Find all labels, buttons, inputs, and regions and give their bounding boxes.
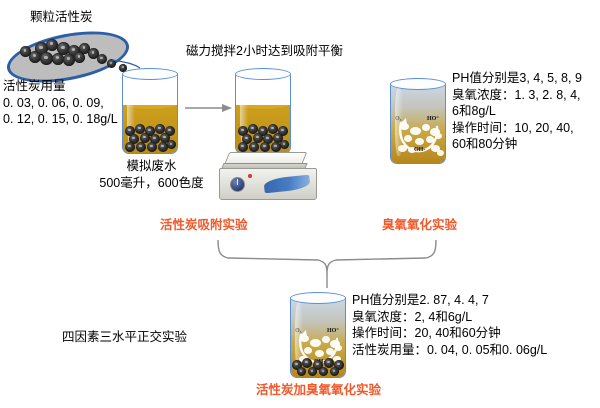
carbon-granule	[319, 367, 328, 376]
wastewater-line-2: 500毫升，600色度	[99, 175, 204, 192]
beaker-rim	[290, 292, 346, 304]
label-adsorption-experiment: 活性炭吸附实验	[160, 214, 248, 234]
carbon-pile-label: 颗粒活性炭	[30, 10, 93, 24]
ozone-params-line-1: PH值分别是3, 4, 5, 8, 9	[452, 70, 582, 87]
stirrer-base	[219, 168, 317, 200]
carbon-granule	[249, 142, 259, 152]
carbon-granule	[238, 142, 248, 152]
carbon-granule	[20, 46, 31, 57]
carbon-granule	[147, 142, 157, 152]
carbon-granule	[297, 367, 306, 376]
carbon-granule	[107, 59, 116, 68]
carbon-dose-block: 活性炭用量 0. 03, 0. 06, 0. 09, 0. 12, 0. 15,…	[3, 78, 118, 128]
beaker-rim	[122, 68, 178, 80]
magnetic-stirrer	[219, 152, 315, 200]
stirrer-power-led-icon	[248, 174, 252, 178]
carbon-granule	[167, 140, 176, 149]
beaker-wastewater	[122, 68, 178, 154]
label-ozonation-experiment: 臭氧氧化实验	[382, 214, 457, 234]
carbon-granule	[308, 367, 317, 376]
label-combined-experiment: 活性炭加臭氧氧化实验	[256, 379, 381, 399]
merge-brace	[218, 240, 436, 274]
label-orthogonal-experiment: 四因素三水平正交实验	[62, 328, 187, 346]
combined-params-line-1: PH值分别是2. 87, 4. 4, 7	[352, 292, 547, 309]
ozone-params-line-3: 6和8g/L	[452, 103, 582, 120]
carbon-dose-line-1: 0. 03, 0. 06, 0. 09,	[3, 95, 118, 112]
beaker-rim	[390, 78, 446, 90]
ozone-params-line-2: 臭氧浓度：1. 3, 2. 8, 4,	[452, 87, 582, 104]
transfer-arrow-head	[222, 104, 232, 112]
carbon-granule	[97, 54, 107, 64]
beaker-rim	[235, 68, 291, 80]
carbon-granule	[330, 367, 339, 376]
combined-params-line-4: 活性炭用量：0. 04, 0. 05和0. 06g/L	[352, 342, 547, 359]
diagram-canvas: 颗粒活性炭 活性炭用量 0. 03, 0. 06, 0. 09, 0. 12, …	[0, 0, 600, 408]
carbon-bed	[125, 124, 175, 152]
carbon-dose-line-2: 0. 12, 0. 15, 0. 18g/L	[3, 111, 118, 128]
beaker-ozonation: O₃ HO° OH-	[390, 78, 446, 164]
wastewater-caption: 模拟废水 500毫升，600色度	[99, 158, 204, 191]
carbon-bed	[292, 358, 344, 376]
carbon-bed	[238, 124, 288, 152]
hydroxide-label: OH-	[414, 147, 425, 153]
beaker-combined: O₃ HO° OH-	[290, 292, 346, 378]
carbon-granule	[260, 142, 270, 152]
combined-params-line-2: 臭氧浓度：2, 4和6g/L	[352, 309, 547, 326]
wastewater-line-1: 模拟废水	[99, 158, 204, 175]
stirrer-brand-logo	[263, 175, 310, 194]
carbon-dose-heading: 活性炭用量	[3, 78, 118, 95]
carbon-pile-title: 颗粒活性炭	[30, 8, 93, 26]
hydroxyl-radical-label: HO°	[327, 328, 339, 334]
ozone-params-line-4: 操作时间：10, 20, 40,	[452, 120, 582, 137]
stirring-title: 磁力搅拌2小时达到吸附平衡	[186, 40, 343, 60]
hydroxyl-radical-label: HO°	[427, 116, 439, 122]
carbon-granule	[125, 142, 135, 152]
ozone-params-line-5: 60和80分钟	[452, 136, 582, 153]
ozone-params-block: PH值分别是3, 4, 5, 8, 9 臭氧浓度：1. 3, 2. 8, 4, …	[452, 70, 582, 153]
combined-params-block: PH值分别是2. 87, 4. 4, 7 臭氧浓度：2, 4和6g/L 操作时间…	[352, 292, 547, 358]
carbon-granule	[136, 142, 146, 152]
combined-params-line-3: 操作时间：20, 40和60分钟	[352, 325, 547, 342]
carbon-granule	[280, 140, 289, 149]
stirrer-knob[interactable]	[230, 177, 245, 192]
beaker-gloss	[395, 88, 403, 156]
beaker-stirred	[235, 68, 291, 154]
